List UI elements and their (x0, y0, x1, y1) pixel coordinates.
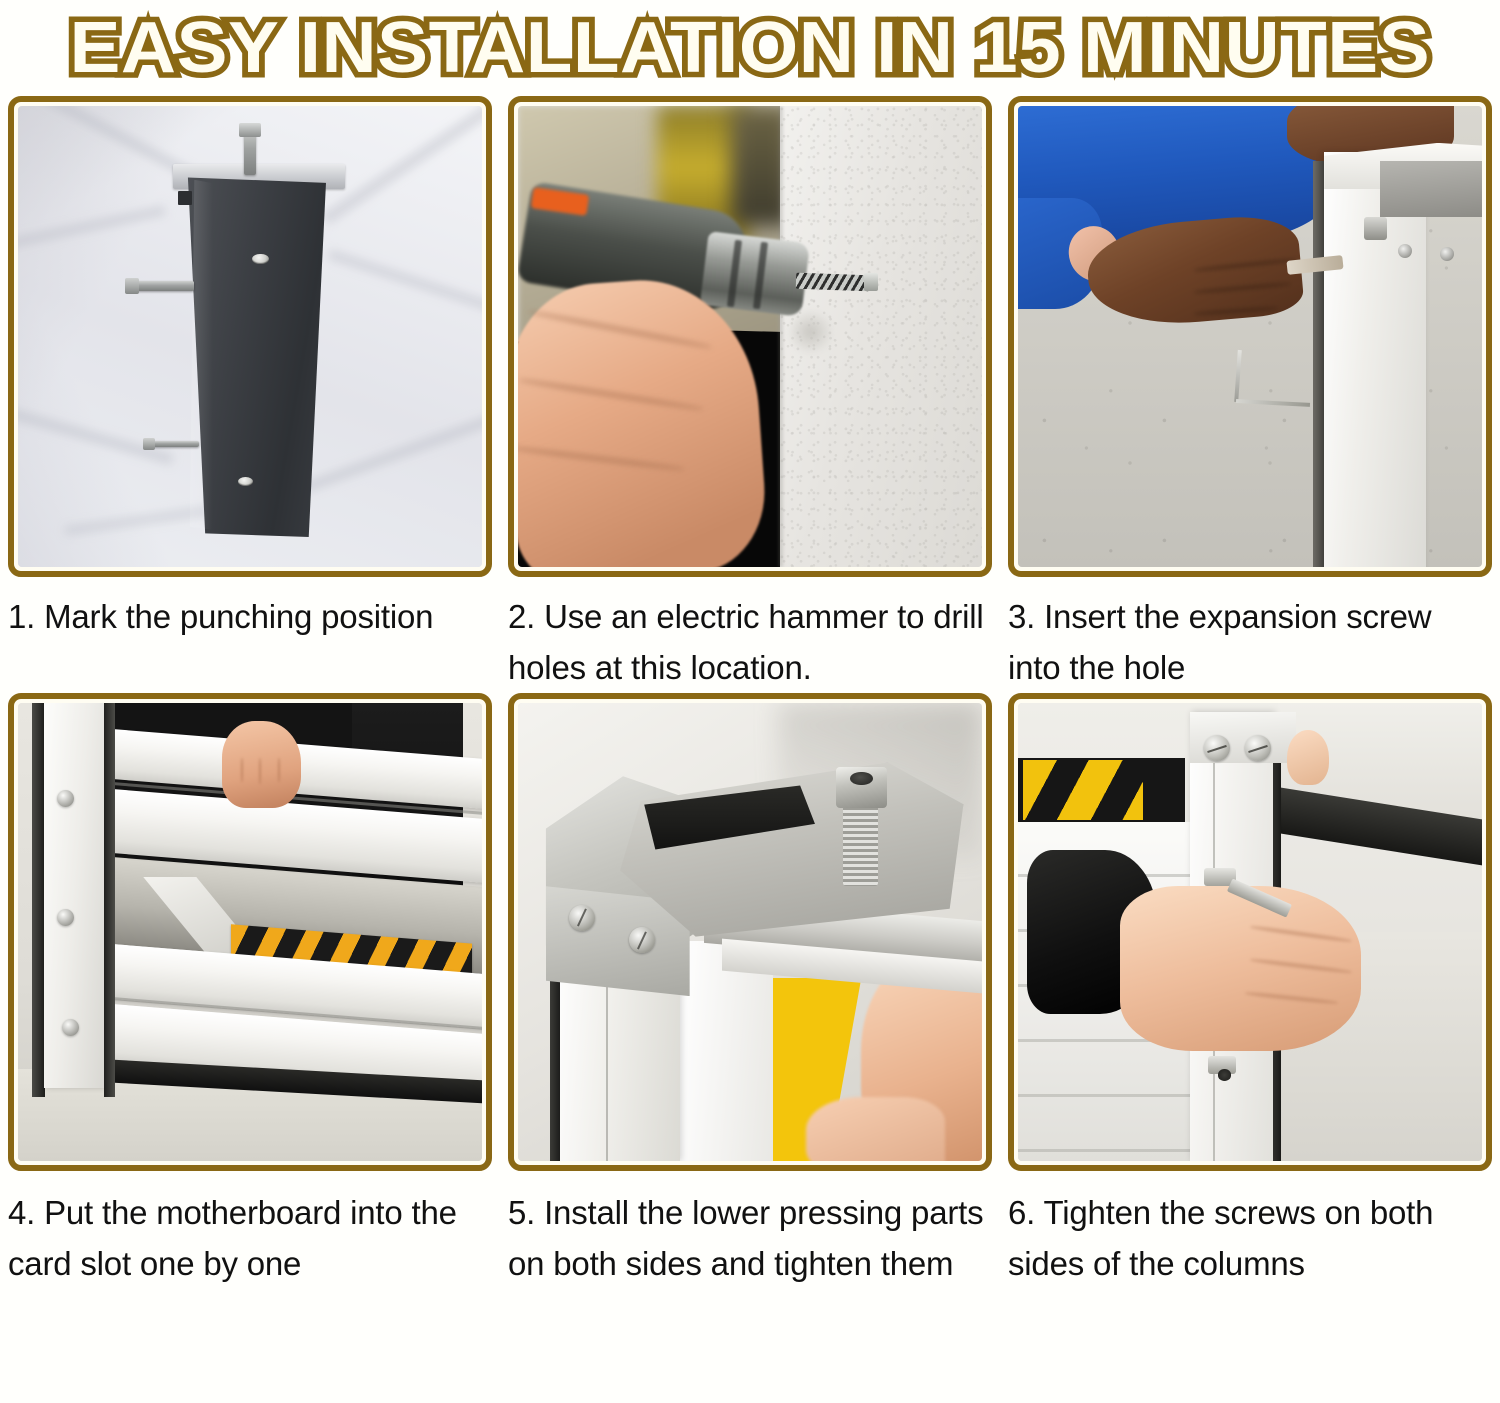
step-caption-4: 4. Put the motherboard into the card slo… (8, 1171, 492, 1289)
step-cell-5: 5. Install the lower pressing parts on b… (500, 693, 1000, 1289)
photo-frame-5 (508, 693, 992, 1171)
finger-crease (241, 758, 243, 782)
photo-frame-4 (8, 693, 492, 1171)
finger-crease (278, 758, 280, 782)
step-caption-5: 5. Install the lower pressing parts on b… (508, 1171, 992, 1289)
wall-edge-shadow (779, 106, 785, 567)
drill-bit (796, 273, 871, 291)
photo-step-3-insert-expansion-screw (1018, 106, 1482, 567)
photo-frame-6 (1008, 693, 1492, 1171)
top-screw (1204, 735, 1230, 761)
title-banner: EASY INSTALLATION IN 15 MINUTES (0, 0, 1500, 96)
steps-row-top: 1. Mark the punching position (0, 96, 1500, 693)
column-screw (1440, 247, 1454, 261)
photo-step-4-insert-boards (18, 703, 482, 1161)
column-tab (178, 191, 192, 205)
step-caption-2: 2. Use an electric hammer to drill holes… (508, 577, 992, 693)
expansion-screw (1364, 217, 1387, 240)
column-front-face (680, 941, 773, 1161)
drill-bit-tip (864, 273, 878, 291)
photo-frame-2 (508, 96, 992, 577)
screw-lower-head (143, 438, 155, 450)
column-top-side (1380, 161, 1482, 216)
photo-step-2-drill-holes (518, 106, 982, 567)
post-screw (62, 1019, 79, 1036)
step-caption-3: 3. Insert the expansion screw into the h… (1008, 577, 1492, 693)
phillips-screw (569, 905, 595, 931)
photo-step-5-lower-pressing-parts (518, 703, 982, 1161)
steps-grid: 1. Mark the punching position (0, 96, 1500, 1289)
step-cell-1: 1. Mark the punching position (0, 96, 500, 693)
post-inner-shadow (104, 703, 115, 1097)
screw-middle-head (125, 278, 139, 293)
thumb (1287, 730, 1329, 785)
photo-step-6-tighten-screws (1018, 703, 1482, 1161)
hand (222, 721, 301, 808)
step-cell-6: 6. Tighten the screws on both sides of t… (1000, 693, 1500, 1289)
hazard-stripe (1023, 760, 1144, 820)
page-title: EASY INSTALLATION IN 15 MINUTES (70, 12, 1431, 84)
screw-top-head (239, 123, 261, 138)
photo-frame-3 (1008, 96, 1492, 577)
step-cell-3: 3. Insert the expansion screw into the h… (1000, 96, 1500, 693)
lower-bolt-socket (1218, 1069, 1232, 1080)
step-caption-1: 1. Mark the punching position (8, 577, 492, 642)
photo-frame-1 (8, 96, 492, 577)
drill-dust (787, 309, 833, 355)
screw-middle (129, 281, 194, 291)
hand-lower (806, 1097, 945, 1161)
steps-row-bottom: 4. Put the motherboard into the card slo… (0, 693, 1500, 1289)
screw-lower (148, 441, 199, 447)
bolt-thread (843, 804, 878, 886)
step-cell-2: 2. Use an electric hammer to drill holes… (500, 96, 1000, 693)
bolt-hole-upper (252, 254, 269, 265)
step-cell-4: 4. Put the motherboard into the card slo… (0, 693, 500, 1289)
step-caption-6: 6. Tighten the screws on both sides of t… (1008, 1171, 1492, 1289)
photo-step-1-mark-punching-position (18, 106, 482, 567)
